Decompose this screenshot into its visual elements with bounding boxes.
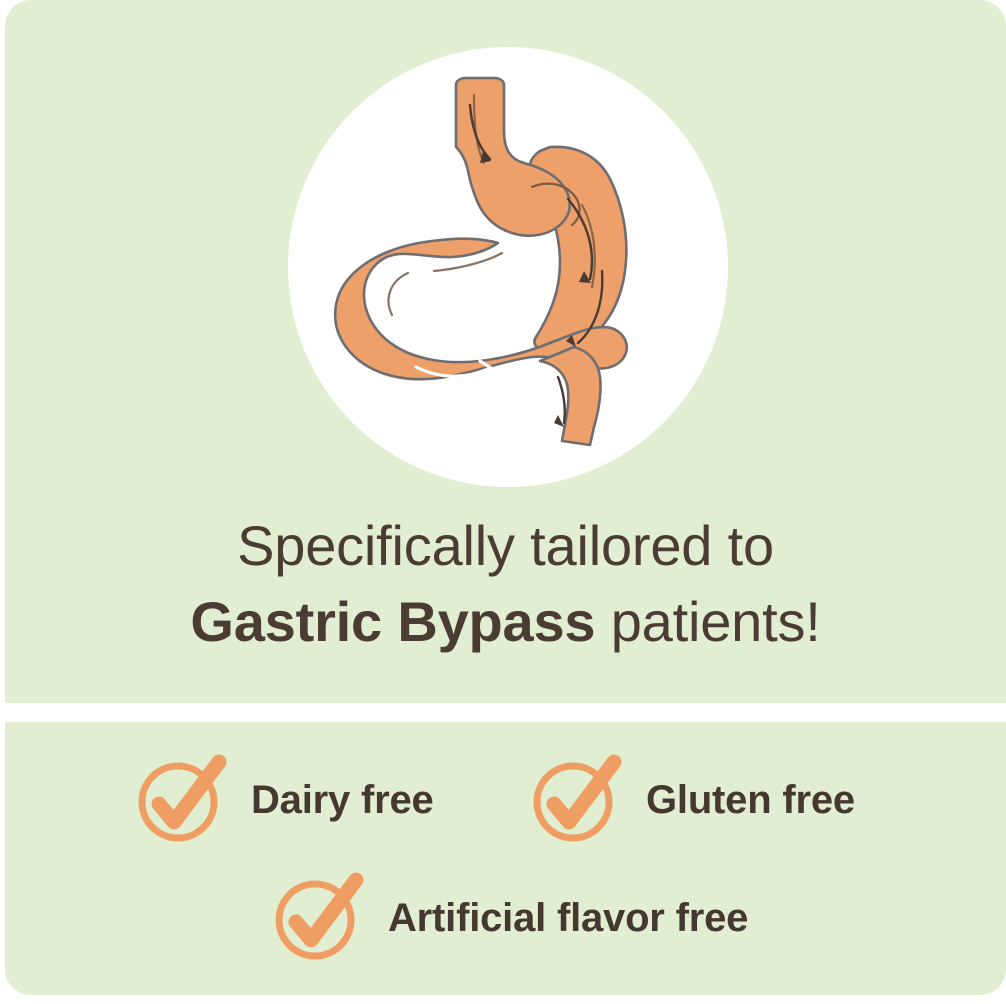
product-feature-panel: Specifically tailored to Gastric Bypass … (0, 0, 1006, 1004)
badge-label: Artificial flavor free (388, 896, 748, 941)
headline-emphasis: Gastric Bypass (190, 590, 595, 653)
bottom-panel: Dairy free Gluten free Artificial flavor… (5, 722, 1006, 995)
check-circle-icon (528, 752, 624, 848)
top-panel: Specifically tailored to Gastric Bypass … (5, 0, 1006, 703)
feature-badge-list: Dairy free Gluten free Artificial flavor… (5, 722, 1006, 995)
badge-dairy-free: Dairy free (133, 752, 434, 848)
page-title: Specifically tailored to Gastric Bypass … (5, 512, 1006, 657)
illustration-circle (288, 47, 728, 487)
badge-gluten-free: Gluten free (528, 752, 855, 848)
badge-artificial-flavor-free: Artificial flavor free (270, 870, 748, 966)
check-circle-icon (270, 870, 366, 966)
gastric-bypass-stomach-icon (288, 47, 728, 487)
badge-label: Dairy free (251, 778, 434, 823)
check-circle-icon (133, 752, 229, 848)
headline-line-1: Specifically tailored to (5, 512, 1006, 580)
headline-line-2: Gastric Bypass patients! (5, 588, 1006, 656)
badge-label: Gluten free (646, 778, 855, 823)
headline-line-2-rest: patients! (595, 590, 820, 653)
